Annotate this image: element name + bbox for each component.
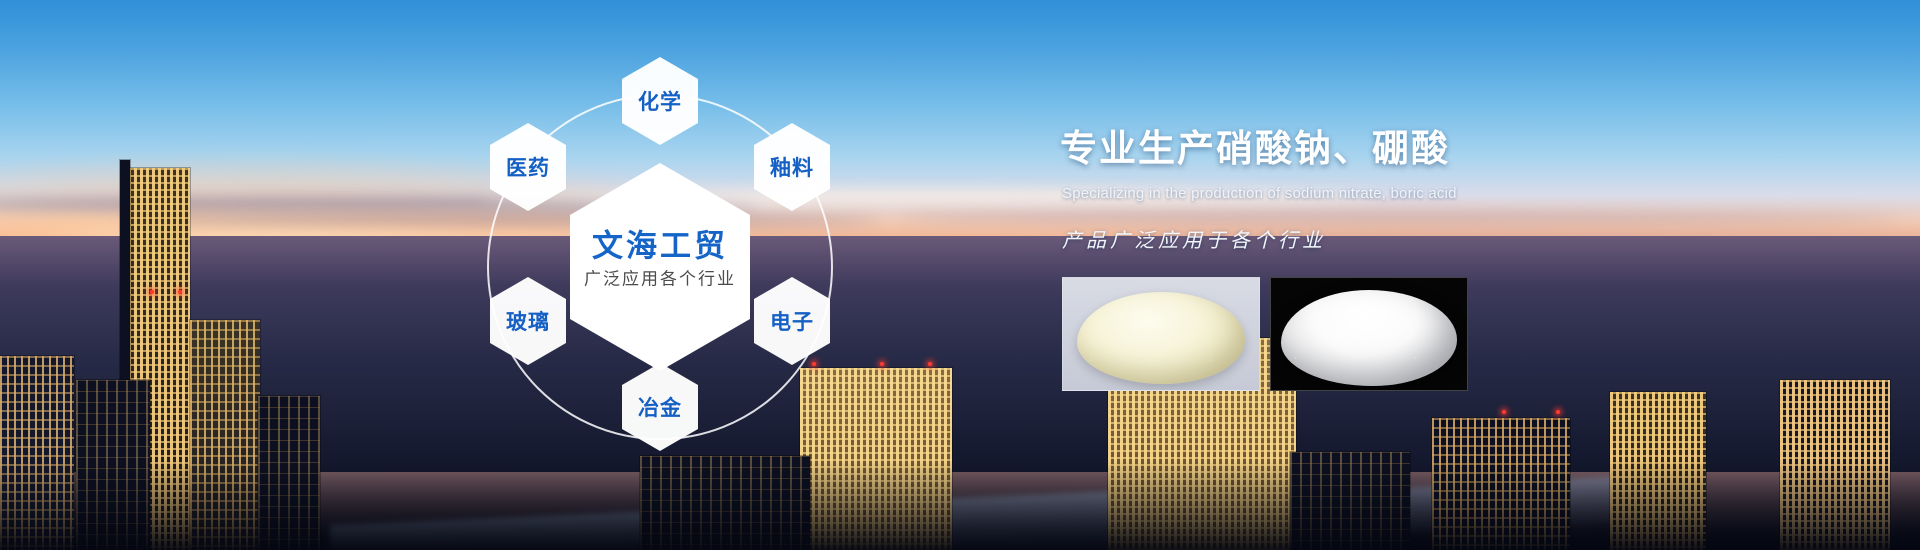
- tagline: 产品广泛应用于各个行业: [1062, 224, 1760, 253]
- industry-hex-diagram: 化学 釉料 电子 冶金 玻璃 医药 文海工贸 广泛应用各个行业: [430, 15, 890, 535]
- company-name: 文海工贸: [592, 221, 728, 266]
- powder-grain-texture: [1077, 292, 1245, 384]
- promo-banner: 化学 釉料 电子 冶金 玻璃 医药 文海工贸 广泛应用各个行业 专业生产硝酸钠、…: [0, 0, 1920, 550]
- hex-glass: [490, 277, 566, 365]
- headline-block: 专业生产硝酸钠、硼酸 Specializing in the productio…: [1060, 118, 1760, 253]
- company-tagline: 广泛应用各个行业: [584, 265, 736, 290]
- product-photo-boric-acid: [1270, 277, 1468, 391]
- hex-electronics: [754, 277, 830, 365]
- aviation-light: [1556, 410, 1560, 414]
- aviation-light: [928, 362, 932, 366]
- product-photo-strip: [1062, 277, 1468, 391]
- foreground-shadow: [0, 460, 1920, 550]
- hex-chemistry: [622, 57, 698, 145]
- subheadline-english: Specializing in the production of sodium…: [1062, 185, 1760, 202]
- aviation-light: [1502, 410, 1506, 414]
- headline: 专业生产硝酸钠、硼酸: [1060, 118, 1760, 172]
- aviation-light: [178, 290, 182, 294]
- aviation-light: [150, 290, 154, 294]
- powder-grain-texture: [1281, 290, 1457, 386]
- powder-pile: [1281, 290, 1457, 386]
- hex-pharmaceutical: [490, 123, 566, 211]
- hex-glaze: [754, 123, 830, 211]
- product-photo-sodium-nitrate: [1062, 277, 1260, 391]
- powder-pile: [1077, 292, 1245, 384]
